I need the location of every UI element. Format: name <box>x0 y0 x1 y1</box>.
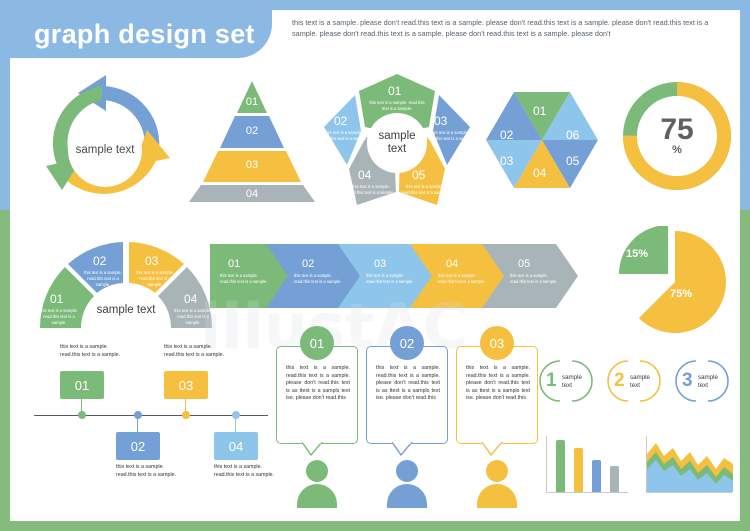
ring-number-1: 1 <box>546 370 557 392</box>
hexagon-label-02: 02 <box>500 128 513 142</box>
frame-border-left-lower <box>0 210 10 531</box>
speech-bubble-persons: this text is a sample. read.this text is… <box>268 324 528 514</box>
ring-number-2: 2 <box>614 370 625 392</box>
fan-label-03: 03 <box>145 254 158 268</box>
page-title: graph design set <box>34 19 255 50</box>
fan-text-03: this text is a sample. read.this text is… <box>132 270 178 288</box>
speech-bubble-03[interactable]: this text is a sample. read.this text is… <box>456 346 538 444</box>
timeline-text-04: this text is a sample. read.this text is… <box>214 464 276 479</box>
area-chart-svg <box>647 436 733 492</box>
chevron-label-02: 02 <box>302 258 314 270</box>
timeline-label-02: 02 <box>131 439 145 454</box>
frame-border-right-lower <box>740 210 750 531</box>
fan-text-02: this text is a sample. read.this text is… <box>80 270 126 288</box>
avatar-body-01 <box>297 484 337 508</box>
timeline-dot-03 <box>182 411 190 419</box>
infographic-page: graph design set this text is a sample. … <box>0 0 750 531</box>
pentagon-text-03: this text is a sample. read.this text is… <box>426 130 474 142</box>
hexagon-segments: 01 02 03 04 05 06 <box>482 78 602 202</box>
pie-svg <box>610 226 740 338</box>
fan-label-01: 01 <box>50 292 63 306</box>
donut-value: 75 <box>660 116 693 144</box>
speech-number-02: 02 <box>390 326 424 360</box>
hexagon-label-05: 05 <box>566 154 579 168</box>
speech-number-03: 03 <box>480 326 514 360</box>
pentagon-text-04: this text is a sample. read.this text is… <box>346 184 396 196</box>
chevron-label-04: 04 <box>446 258 458 270</box>
speech-bubble-text-01: this text is a sample. read.this text is… <box>286 365 350 403</box>
speech-number-01: 01 <box>300 326 334 360</box>
pie-label-75: 75% <box>670 288 692 300</box>
chevron-text-03: this text is a sample. read.this text is… <box>366 273 416 285</box>
ring-number-3: 3 <box>682 370 693 392</box>
hexagon-label-06: 06 <box>566 128 579 142</box>
chevron-text-05: this text is a sample. read.this text is… <box>510 273 560 285</box>
header-description: this text is a sample. please don't read… <box>292 17 732 39</box>
speech-number-label-02: 02 <box>400 336 414 351</box>
bar-4 <box>610 466 619 492</box>
chevron-label-01: 01 <box>228 258 240 270</box>
timeline-dot-02 <box>134 411 142 419</box>
chevron-text-02: this text is a sample. read.this text is… <box>294 273 344 285</box>
timeline-dot-01 <box>78 411 86 419</box>
numbered-ring-badges: 1 sample text 2 sample text 3 sample tex… <box>538 356 738 408</box>
donut-unit: % <box>672 144 682 156</box>
hexagon-label-03: 03 <box>500 154 513 168</box>
pentagon-label-02: 02 <box>334 114 347 128</box>
cycle-center-label: sample text <box>68 113 142 187</box>
pentagon-label-04: 04 <box>358 168 371 182</box>
timeline-box-02[interactable]: 02 <box>116 432 160 460</box>
avatar-body-02 <box>387 484 427 508</box>
speech-tail-01 <box>302 442 324 456</box>
header-band: graph design set this text is a sample. … <box>10 10 740 58</box>
timeline-text-02: this text is a sample. read.this text is… <box>116 464 178 479</box>
bar-chart-x-axis <box>546 492 628 493</box>
timeline-label-03: 03 <box>179 378 193 393</box>
chevron-text-04: this text is a sample. read.this text is… <box>438 273 488 285</box>
speech-tail-03 <box>482 442 504 456</box>
speech-tail-02 <box>392 442 414 456</box>
fan-text-01: this text is a sample. read.this text is… <box>38 308 80 326</box>
speech-bubble-02[interactable]: this text is a sample. read.this text is… <box>366 346 448 444</box>
avatar-head-03 <box>486 460 508 482</box>
avatar-head-02 <box>396 460 418 482</box>
speech-bubble-01[interactable]: this text is a sample. read.this text is… <box>276 346 358 444</box>
fan-label-02: 02 <box>93 254 106 268</box>
timeline-text-01: this text is a sample. read.this text is… <box>60 344 122 359</box>
fan-text-04: this text is a sample. read.this text is… <box>172 308 214 326</box>
bar-1 <box>556 440 565 492</box>
timeline-box-03[interactable]: 03 <box>164 371 208 399</box>
chevron-process-bar: 01 this text is a sample. read.this text… <box>210 240 582 312</box>
circular-arrow-cycle: sample text <box>30 70 180 210</box>
bar-chart-y-axis <box>546 436 547 492</box>
pentagon-text-01: this text is a sample. read.this text is… <box>368 100 426 112</box>
frame-border-right-upper <box>740 0 750 210</box>
chevron-label-03: 03 <box>374 258 386 270</box>
fan-center-label: sample text <box>91 304 161 317</box>
exploded-pie-chart: 15% 75% <box>610 226 740 338</box>
frame-border-bottom <box>0 521 750 531</box>
semicircle-fan: 01 this text is a sample. read.this text… <box>36 228 216 333</box>
milestone-timeline: this text is a sample. read.this text is… <box>24 336 274 506</box>
ring-text-2: sample text <box>630 374 656 390</box>
chevron-text-01: this text is a sample. read.this text is… <box>220 273 270 285</box>
area-chart-x-axis <box>646 492 732 493</box>
pentagon-label-03: 03 <box>434 114 447 128</box>
pentagon-text-02: this text is a sample. read.this text is… <box>320 130 368 142</box>
pyramid-chart: 01 02 03 04 <box>188 76 316 206</box>
chevron-label-05: 05 <box>518 258 530 270</box>
pentagon-center-label: sample text <box>369 130 425 156</box>
mini-bar-chart <box>540 434 632 500</box>
ring-text-3: sample text <box>698 374 724 390</box>
pyramid-label-3: 03 <box>188 159 316 171</box>
pentagon-label-01: 01 <box>388 84 401 98</box>
diagram-canvas: sample text 01 02 03 04 <box>10 58 740 521</box>
frame-border-top <box>0 0 750 10</box>
hexagon-label-01: 01 <box>533 104 546 118</box>
timeline-box-04[interactable]: 04 <box>214 432 258 460</box>
bar-2 <box>574 448 583 492</box>
fan-label-04: 04 <box>184 292 197 306</box>
bar-3 <box>592 460 601 492</box>
hexagon-label-04: 04 <box>533 166 546 180</box>
ring-text-1: sample text <box>562 374 588 390</box>
pentagon-label-05: 05 <box>412 168 425 182</box>
pentagon-text-05: this text is a sample. read.this text is… <box>400 184 450 196</box>
timeline-dot-04 <box>232 411 240 419</box>
timeline-box-01[interactable]: 01 <box>60 371 104 399</box>
timeline-label-04: 04 <box>229 439 243 454</box>
avatar-body-03 <box>477 484 517 508</box>
pyramid-label-1: 01 <box>188 96 316 108</box>
donut-percent-chart: 75 % <box>618 76 736 196</box>
speech-bubble-text-03: this text is a sample. read.this text is… <box>466 365 530 403</box>
mini-stacked-area-chart <box>642 434 738 500</box>
speech-bubble-text-02: this text is a sample. read.this text is… <box>376 365 440 403</box>
timeline-label-01: 01 <box>75 378 89 393</box>
pyramid-label-2: 02 <box>188 125 316 137</box>
pie-label-15: 15% <box>626 248 648 260</box>
speech-number-label-03: 03 <box>490 336 504 351</box>
pentagon-segments: 01 this text is a sample. read.this text… <box>322 72 472 212</box>
speech-number-label-01: 01 <box>310 336 324 351</box>
frame-border-left-upper <box>0 0 10 210</box>
timeline-text-03: this text is a sample. read.this text is… <box>164 344 226 359</box>
pyramid-label-4: 04 <box>188 188 316 200</box>
donut-center: 75 % <box>637 96 717 176</box>
avatar-head-01 <box>306 460 328 482</box>
